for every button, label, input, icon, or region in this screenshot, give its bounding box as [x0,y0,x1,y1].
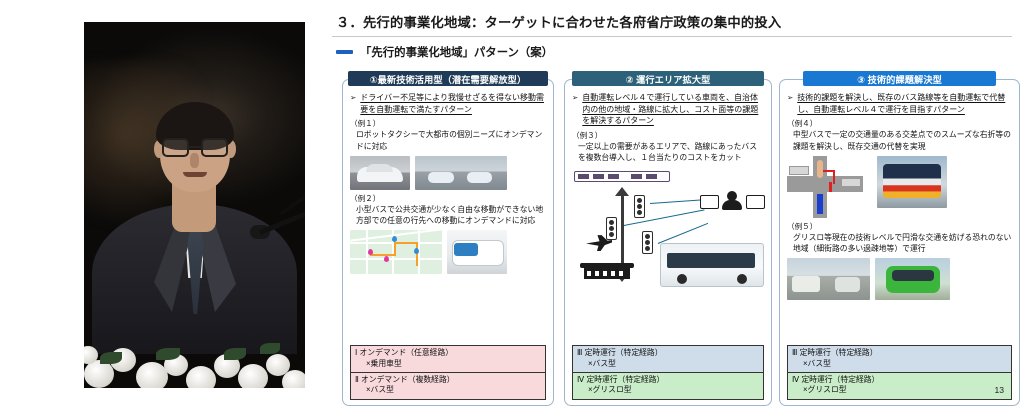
presentation-slide: ３．先行的事業化地域：ターゲットに合わせた各府省庁政策の集中的投入 「先行的事業… [318,0,1028,409]
tag-line2: ×バス型 [577,359,759,370]
robotaxi-white-sedan-photo [350,156,410,190]
tag-row: Ⅲ 定時運行（特定経路） ×バス型 [787,345,1012,373]
column-2-example-1-text: 一定以上の需要があるエリアで、路線にあったバスを複数台導入し、１台当たりのコスト… [572,141,764,163]
title-divider [332,36,1012,37]
column-1-example-1-images [350,156,546,190]
tag-line1: 定時運行（特定経路） [586,375,664,384]
narrow-residential-street-photo [787,258,870,300]
column-1-body: ➢ ドライバー不足等により我慢せざるを得ない移動需要を自動運転で満たすパターン … [342,79,554,406]
tag-numeral: Ⅳ [577,375,584,384]
column-2-bullet: ➢ 自動運転レベル４で運行している車両を、自治体内の他の地域・路線に拡大し、コス… [572,92,764,127]
tag-row: Ⅲ 定時運行（特定経路） ×バス型 [572,345,764,373]
pattern-column-1: ①最新技術活用型（潜在需要解放型） ➢ ドライバー不足等により我慢せざるを得ない… [342,71,554,406]
tag-row: Ⅰ オンデマンド（任意経路） ×乗用車型 [350,345,546,373]
tag-line1: 定時運行（特定経路） [585,348,663,357]
column-2-body: ➢ 自動運転レベル４で運行している車両を、自治体内の他の地域・路線に拡大し、コス… [564,79,772,406]
station-building-icon [580,255,634,279]
speaker-photograph [84,22,305,388]
slide-subtitle: 「先行的事業化地域」パターン（案） [360,44,553,60]
tag-numeral: Ⅲ [577,348,582,357]
page-title: ３．先行的事業化地域：ターゲットに合わせた各府省庁政策の集中的投入 [336,12,1010,31]
tag-row: Ⅱ オンデマンド（複数経路） ×バス型 [350,372,546,400]
tag-line1: 定時運行（特定経路） [800,348,878,357]
remote-operator-icon [722,191,742,211]
eyeglass-lens-left [162,138,189,157]
red-and-white-city-bus-photo [877,156,947,208]
tag-line2: ×グリスロ型 [792,385,1007,396]
intersection-right-turn-diagram [787,156,863,218]
tag-numeral: Ⅱ [355,375,359,384]
column-3-example-1-images [787,156,1012,218]
tag-line2: ×バス型 [355,385,541,396]
bullet-arrow-icon: ➢ [787,92,793,104]
column-1-bullet-text: ドライバー不足等により我慢せざるを得ない移動需要を自動運転で満たすパターン [360,92,546,115]
column-3-tags: Ⅲ 定時運行（特定経路） ×バス型 Ⅳ 定時運行（特定経路） ×グリスロ型 [787,343,1012,400]
tag-line2: ×バス型 [792,359,1007,370]
column-2-example-1-label: （例３） [572,131,764,141]
tag-numeral: Ⅰ [355,348,357,357]
column-3-example-1-label: （例４） [787,119,1012,129]
column-3-example-1-text: 中型バスで一定の交通量のある交差点でのスムーズな右折等の課題を解決し、既存交通の… [787,129,1012,151]
tag-row: Ⅳ 定時運行（特定経路） ×グリスロ型 [572,372,764,400]
mouth [183,172,207,177]
pattern-column-3: ③ 技術的課題解決型 ➢ 技術的課題を解決し、既存のバス路線等を自動運転で代替し… [779,71,1020,406]
arrow-up-icon [615,187,629,196]
comm-link-line [650,199,706,204]
remote-monitoring-traffic-signal-diagram [572,169,764,297]
column-1-example-2-images [350,230,546,274]
column-3-example-2-label: （例５） [787,222,1012,232]
tag-line2: ×グリスロ型 [577,385,759,396]
traffic-signal-icon [606,217,617,240]
comm-link-line [658,223,709,245]
column-3-example-2-images [787,258,1012,300]
traffic-signal-icon [642,231,653,254]
slide-subtitle-row: 「先行的事業化地域」パターン（案） [336,43,553,61]
blue-white-autonomous-minibus-photo [447,230,507,274]
traffic-signal-icon [634,195,645,218]
tag-line1: オンデマンド（複数経路） [361,375,455,384]
column-1-tags: Ⅰ オンデマンド（任意経路） ×乗用車型 Ⅱ オンデマンド（複数経路） ×バス型 [350,343,546,400]
road-strip-icon [574,171,670,182]
tag-numeral: Ⅲ [792,348,797,357]
column-2-tags: Ⅲ 定時運行（特定経路） ×バス型 Ⅳ 定時運行（特定経路） ×グリスロ型 [572,343,764,400]
page-number: 13 [994,385,1004,395]
dash-icon [336,50,353,54]
city-map-with-route-illustration [350,230,442,274]
column-3-bullet: ➢ 技術的課題を解決し、既存のバス路線等を自動運転で代替し、自動運転レベル４で運… [787,92,1012,115]
column-1-example-1-text: ロボットタクシーで大都市の個別ニーズにオンデマンドに対応 [350,129,546,151]
slide-title-row: ３．先行的事業化地域：ターゲットに合わせた各府省庁政策の集中的投入 [336,12,1010,36]
pattern-columns: ①最新技術活用型（潜在需要解放型） ➢ ドライバー不足等により我慢せざるを得ない… [342,71,1020,406]
column-1-bullet: ➢ ドライバー不足等により我慢せざるを得ない移動需要を自動運転で満たすパターン [350,92,546,115]
column-1-header: ①最新技術活用型（潜在需要解放型） [348,71,548,86]
green-slow-mobility-vehicle-photo [875,258,950,300]
column-3-bullet-text: 技術的課題を解決し、既存のバス路線等を自動運転で代替し、自動運転レベル４で運行を… [797,92,1012,115]
tag-line1: 定時運行（特定経路） [801,375,879,384]
eyeglasses [160,138,230,158]
monitor-screen-icon [746,195,765,209]
tag-line2: ×乗用車型 [355,359,541,370]
column-1-example-1-label: （例１） [350,119,546,129]
two-autonomous-cars-on-street-photo [415,156,507,190]
column-2-bullet-text: 自動運転レベル４で運行している車両を、自治体内の他の地域・路線に拡大し、コスト面… [582,92,764,127]
monitor-screen-icon [700,195,719,209]
bullet-arrow-icon: ➢ [572,92,578,104]
column-3-header: ③ 技術的課題解決型 [803,71,996,86]
city-bus-photo [660,243,764,287]
tag-row: Ⅳ 定時運行（特定経路） ×グリスロ型 [787,372,1012,400]
tag-line1: オンデマンド（任意経路） [359,348,453,357]
column-1-example-2-text: 小型バスで公共交通が少なく自由な移動ができない地方部での任意の行先への移動にオン… [350,204,546,226]
bullet-arrow-icon: ➢ [350,92,356,104]
screenshot-root: ３．先行的事業化地域：ターゲットに合わせた各府省庁政策の集中的投入 「先行的事業… [0,0,1028,409]
column-3-example-2-text: グリスロ等現在の技術レベルで円滑な交通を妨げる恐れのない地域（細街路の多い過疎地… [787,232,1012,254]
pattern-column-2: ② 運行エリア拡大型 ➢ 自動運転レベル４で運行している車両を、自治体内の他の地… [564,71,772,406]
tag-numeral: Ⅳ [792,375,799,384]
eyeglass-bridge [189,146,201,148]
column-3-body: ➢ 技術的課題を解決し、既存のバス路線等を自動運転で代替し、自動運転レベル４で運… [779,79,1020,406]
column-1-example-2-label: （例２） [350,194,546,204]
photo-panel [0,0,318,409]
eyeglass-lens-right [201,138,228,157]
column-2-header: ② 運行エリア拡大型 [572,71,764,86]
flower-arrangement [84,302,305,388]
